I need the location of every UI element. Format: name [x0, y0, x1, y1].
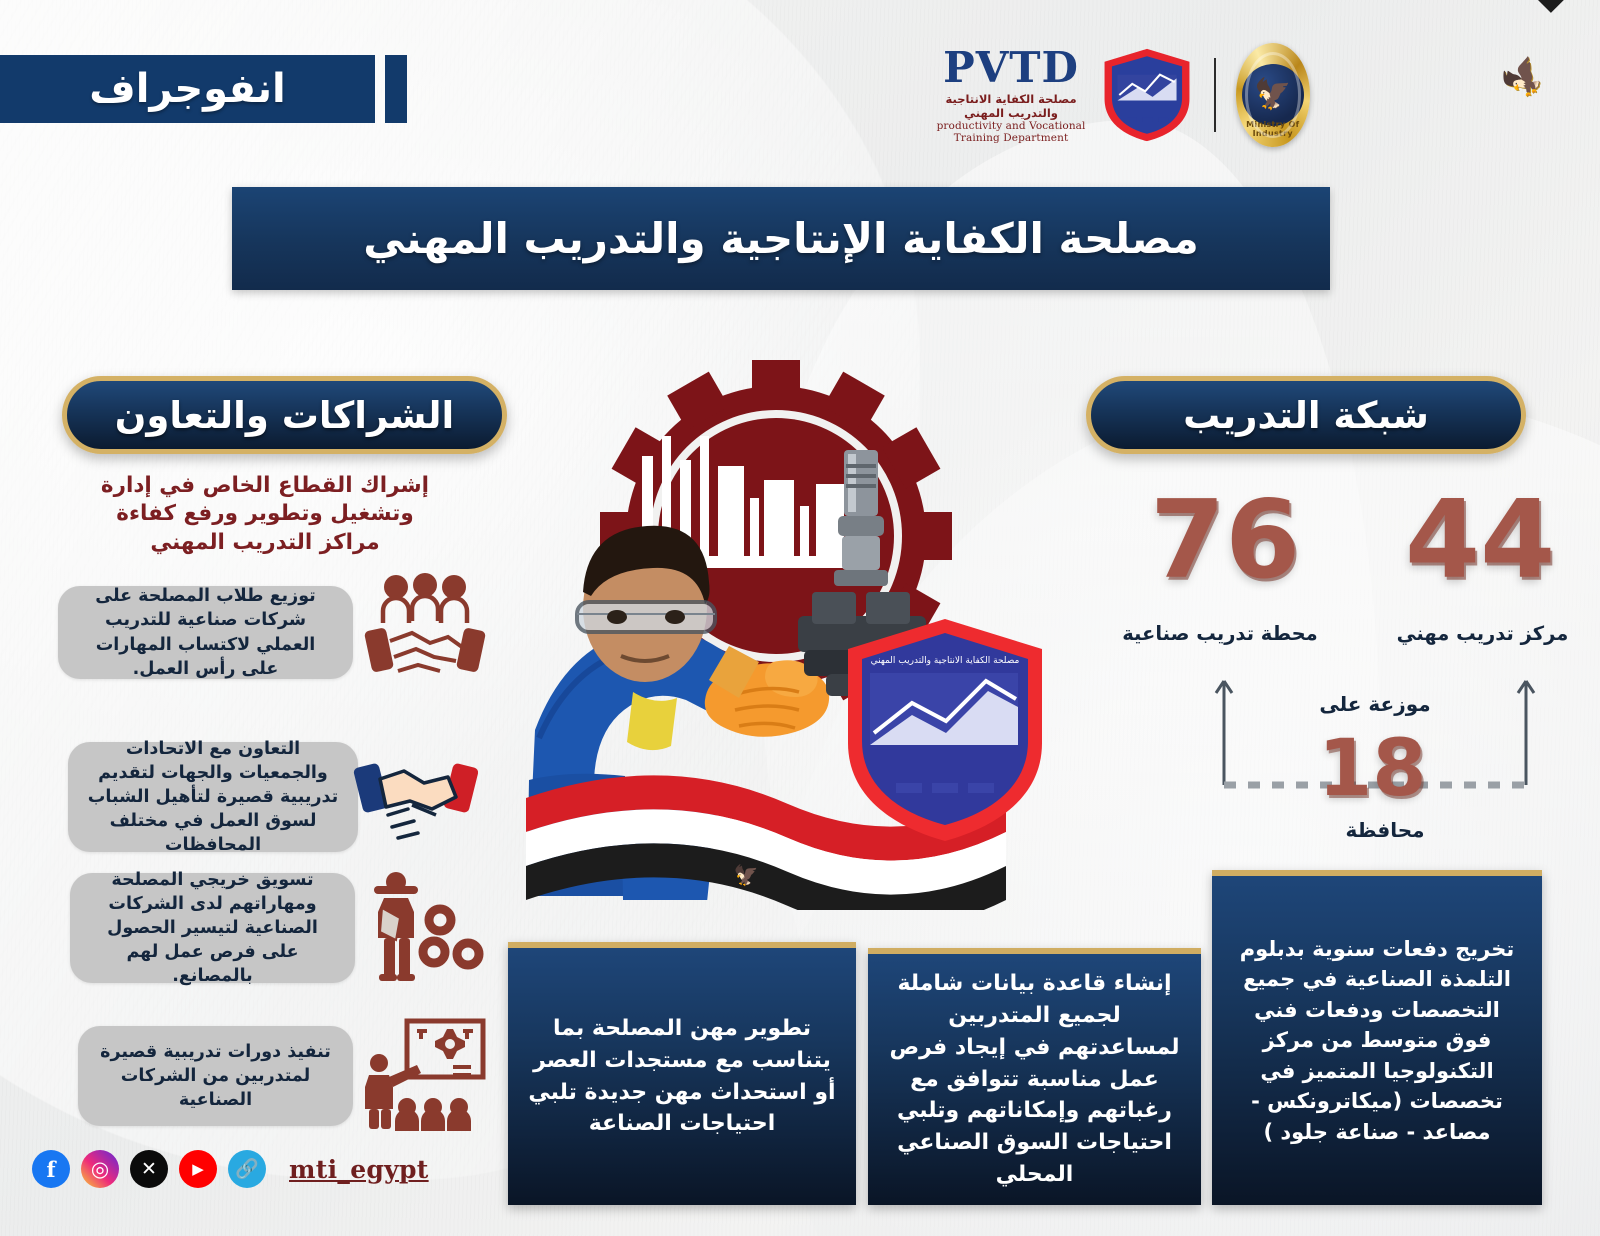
main-title-bar: مصلحة الكفاية الإنتاجية والتدريب المهني	[232, 187, 1330, 290]
distribution-prefix-label: موزعة على	[1280, 692, 1470, 716]
social-handle[interactable]: mti_egypt	[289, 1155, 429, 1184]
social-links: f ◎ ✕ ▶ 🔗 mti_egypt	[32, 1150, 429, 1188]
pvtd-emblem-icon: مصلحة الكفاية الانتاجية والتدريب المهني	[840, 615, 1050, 845]
svg-text:🦅: 🦅	[734, 863, 759, 887]
partnership-item-4-text: تنفيذ دورات تدريبية قصيرة لمتدربين من ال…	[96, 1040, 335, 1112]
partnership-subtitle: إشراك القطاع الخاص في إدارة وتشغيل وتطوي…	[95, 472, 435, 557]
partnership-item-2-text: التعاون مع الاتحادات والجمعيات والجهات ل…	[86, 737, 340, 858]
pvtd-acronym: PVTD	[930, 47, 1092, 89]
infographic-canvas: 🦅 انفوجراف PVTD مصلحة الكفاية الانتاجية …	[0, 0, 1600, 1236]
content-box-graduates: تخريج دفعات سنوية بدبلوم التلمذة الصناعي…	[1212, 870, 1542, 1205]
content-box-database-text: إنشاء قاعدة بيانات شاملة لجميع المتدربين…	[886, 968, 1183, 1191]
section-header-network: شبكة التدريب	[1086, 376, 1526, 454]
pvtd-logo-text: PVTD مصلحة الكفاية الانتاجية والتدريب ال…	[930, 47, 1092, 144]
stat-value-stations: 76	[1150, 487, 1300, 595]
central-illustration: 🦅 مصلحة الكفاية الانتاجية والتدريب المهن…	[520, 360, 1110, 930]
worker-gears-icon	[360, 868, 490, 988]
page-title: مصلحة الكفاية الإنتاجية والتدريب المهني	[363, 214, 1199, 263]
svg-text:مصلحة الكفاية الانتاجية والتدر: مصلحة الكفاية الانتاجية والتدريب المهني	[871, 656, 1020, 666]
pvtd-arabic-name: مصلحة الكفاية الانتاجية والتدريب المهني	[930, 92, 1092, 120]
partnership-heading: الشراكات والتعاون	[115, 394, 454, 437]
partnership-item-3-text: تسويق خريجي المصلحة ومهاراتهم لدى الشركا…	[88, 868, 337, 989]
section-header-partnership: الشراكات والتعاون	[62, 376, 507, 454]
pvtd-logo: PVTD مصلحة الكفاية الانتاجية والتدريب ال…	[930, 47, 1194, 144]
ministry-seal-caption: Ministry Of Industry	[1236, 120, 1310, 138]
network-heading: شبكة التدريب	[1183, 394, 1429, 437]
infograph-banner: انفوجراف	[0, 55, 375, 123]
partnership-item-1: توزيع طلاب المصلحة على شركات صناعية للتد…	[58, 586, 353, 679]
trainer-board-icon	[355, 1015, 490, 1133]
partnership-item-1-text: توزيع طلاب المصلحة على شركات صناعية للتد…	[76, 584, 335, 681]
logo-group: PVTD مصلحة الكفاية الانتاجية والتدريب ال…	[930, 30, 1310, 160]
partnership-item-3: تسويق خريجي المصلحة ومهاراتهم لدى الشركا…	[70, 873, 355, 983]
x-twitter-icon[interactable]: ✕	[130, 1150, 168, 1188]
facebook-icon[interactable]: f	[32, 1150, 70, 1188]
pvtd-shield-icon	[1100, 47, 1194, 143]
content-box-database: إنشاء قاعدة بيانات شاملة لجميع المتدربين…	[868, 948, 1201, 1205]
ministry-seal-emblem-icon: 🦅	[1242, 64, 1304, 126]
stat-value-centers: 44	[1405, 487, 1555, 595]
youtube-icon[interactable]: ▶	[179, 1150, 217, 1188]
content-box-professions-text: تطوير مهن المصلحة بما يتناسب مع مستجدات …	[526, 1013, 838, 1141]
stat-label-stations: محطة تدريب صناعية	[1110, 622, 1330, 645]
stat-value-governorates: 18	[1318, 730, 1427, 808]
instagram-icon[interactable]: ◎	[81, 1150, 119, 1188]
partnership-item-4: تنفيذ دورات تدريبية قصيرة لمتدربين من ال…	[78, 1026, 353, 1126]
pvtd-english-name: productivity and Vocational Training Dep…	[930, 120, 1092, 144]
stat-label-governorates: محافظة	[1295, 818, 1475, 842]
content-box-graduates-text: تخريج دفعات سنوية بدبلوم التلمذة الصناعي…	[1230, 934, 1524, 1147]
link-icon[interactable]: 🔗	[228, 1150, 266, 1188]
flag-stripe-black	[1500, 0, 1600, 13]
handshake-group-icon	[360, 565, 490, 690]
content-box-professions: تطوير مهن المصلحة بما يتناسب مع مستجدات …	[508, 942, 856, 1205]
logo-divider	[1214, 58, 1215, 132]
partnership-item-2: التعاون مع الاتحادات والجمعيات والجهات ل…	[68, 742, 358, 852]
eagle-of-saladin-icon: 🦅	[1494, 47, 1556, 109]
infograph-banner-accent	[385, 55, 407, 123]
stat-label-centers: مركز تدريب مهني	[1375, 622, 1590, 645]
infograph-label: انفوجراف	[89, 66, 285, 112]
handshake-icon	[352, 735, 480, 855]
ministry-of-industry-seal: 🦅 Ministry Of Industry	[1236, 43, 1310, 147]
